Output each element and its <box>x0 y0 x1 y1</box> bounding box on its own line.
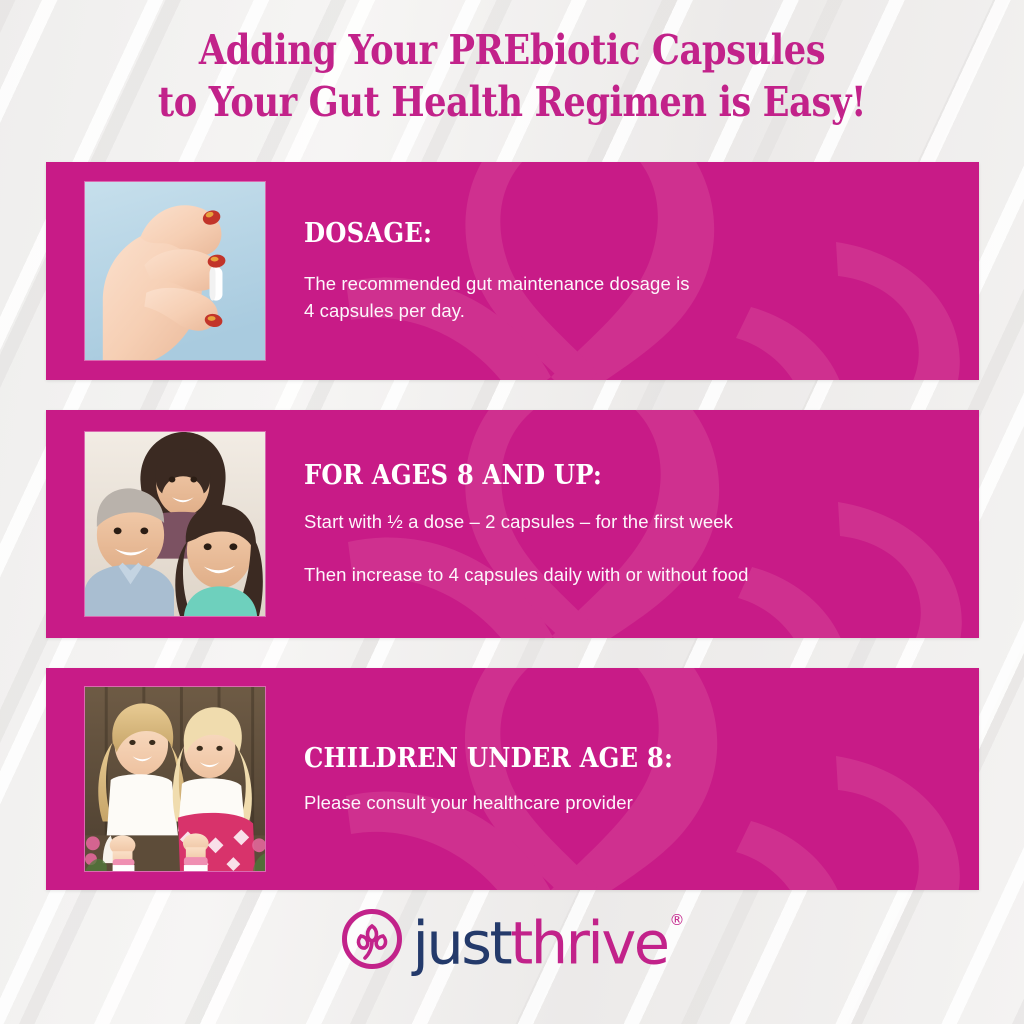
brand-logo: justthrive® <box>0 905 1024 973</box>
title-line-2: to Your Gut Health Regimen is Easy! <box>72 76 953 128</box>
panel-body-ages-8-and-up: Start with ½ a dose – 2 capsules – for t… <box>304 508 949 588</box>
info-panel-ages-8-and-up: FOR AGES 8 AND UP: Start with ½ a dose –… <box>46 410 979 638</box>
panel-heading-children-under-8: CHILDREN UNDER AGE 8: <box>304 743 885 775</box>
brand-wordmark: justthrive® <box>412 907 682 975</box>
wordmark-thrive: thrive <box>510 909 667 978</box>
page-title: Adding Your PREbiotic Capsules to Your G… <box>0 24 1024 128</box>
body-line: Start with ½ a dose – 2 capsules – for t… <box>304 508 949 535</box>
panel-text-column: CHILDREN UNDER AGE 8: Please consult you… <box>304 743 979 816</box>
info-panel-children-under-8: CHILDREN UNDER AGE 8: Please consult you… <box>46 668 979 890</box>
photo-smiling-family <box>84 431 266 617</box>
panel-heading-ages-8-and-up: FOR AGES 8 AND UP: <box>304 460 885 492</box>
justthrive-petal-mark-icon <box>341 908 403 970</box>
body-line: Then increase to 4 capsules daily with o… <box>304 561 949 588</box>
panel-heading-dosage: DOSAGE: <box>304 218 885 250</box>
registered-trademark-symbol: ® <box>670 911 685 929</box>
infographic-canvas: Adding Your PREbiotic Capsules to Your G… <box>0 0 1024 1024</box>
body-line: The recommended gut maintenance dosage i… <box>304 270 949 297</box>
panel-text-column: FOR AGES 8 AND UP: Start with ½ a dose –… <box>304 460 979 588</box>
panel-body-dosage: The recommended gut maintenance dosage i… <box>304 270 949 324</box>
photo-hand-holding-capsule <box>84 181 266 361</box>
panel-text-column: DOSAGE: The recommended gut maintenance … <box>304 218 979 324</box>
body-line: Please consult your healthcare provider <box>304 789 949 816</box>
body-line: 4 capsules per day. <box>304 297 949 324</box>
info-panel-dosage: DOSAGE: The recommended gut maintenance … <box>46 162 979 380</box>
photo-two-young-girls <box>84 686 266 872</box>
title-line-1: Adding Your PREbiotic Capsules <box>72 24 953 76</box>
wordmark-just: just <box>412 909 510 978</box>
panel-body-children-under-8: Please consult your healthcare provider <box>304 789 949 816</box>
